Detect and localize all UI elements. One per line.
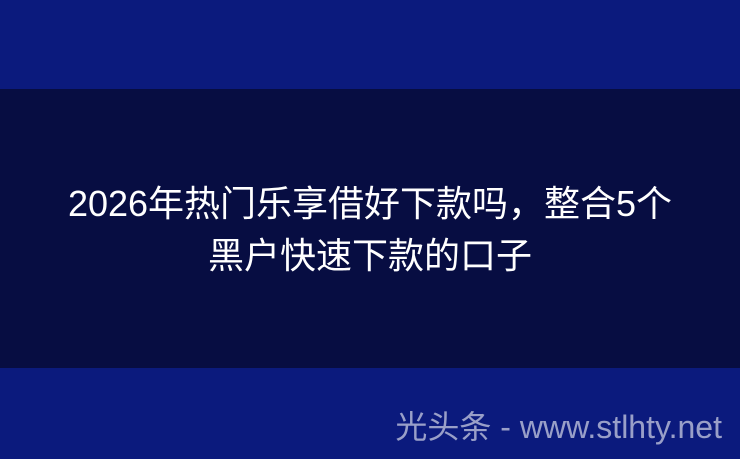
headline-line-1: 2026年热门乐享借好下款吗，整合5个: [0, 178, 740, 230]
site-watermark: 光头条 - www.stlhty.net: [395, 407, 722, 447]
poster-image: 2026年热门乐享借好下款吗，整合5个 黑户快速下款的口子 光头条 - www.…: [0, 0, 740, 459]
headline-title: 2026年热门乐享借好下款吗，整合5个 黑户快速下款的口子: [0, 178, 740, 282]
headline-line-2: 黑户快速下款的口子: [0, 230, 740, 282]
top-color-band: [0, 0, 740, 89]
